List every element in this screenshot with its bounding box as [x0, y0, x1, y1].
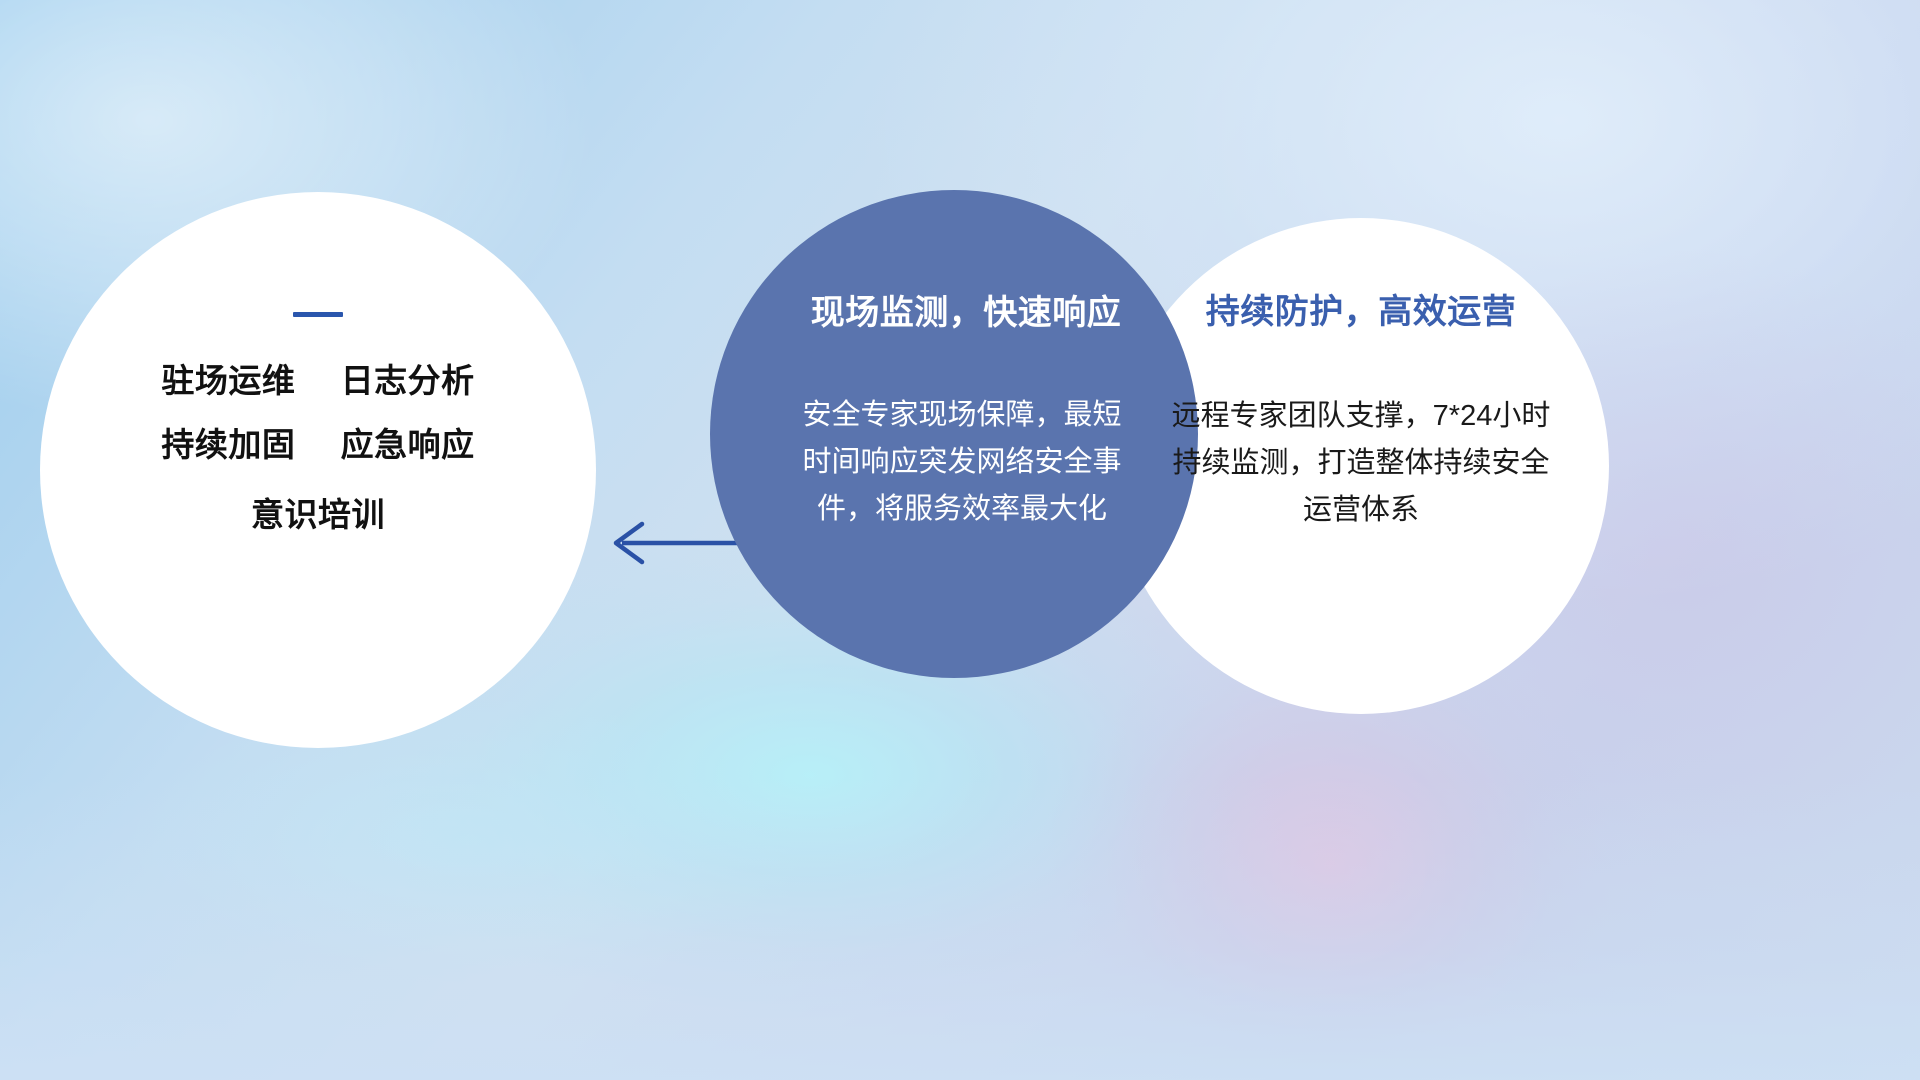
onsite-monitoring-circle[interactable]	[710, 190, 1198, 678]
capabilities-circle[interactable]	[40, 192, 596, 748]
slide-canvas: 驻场运维 日志分析 持续加固 应急响应 意识培训 现场监测，快速响应 安全专家现…	[0, 0, 1920, 1080]
